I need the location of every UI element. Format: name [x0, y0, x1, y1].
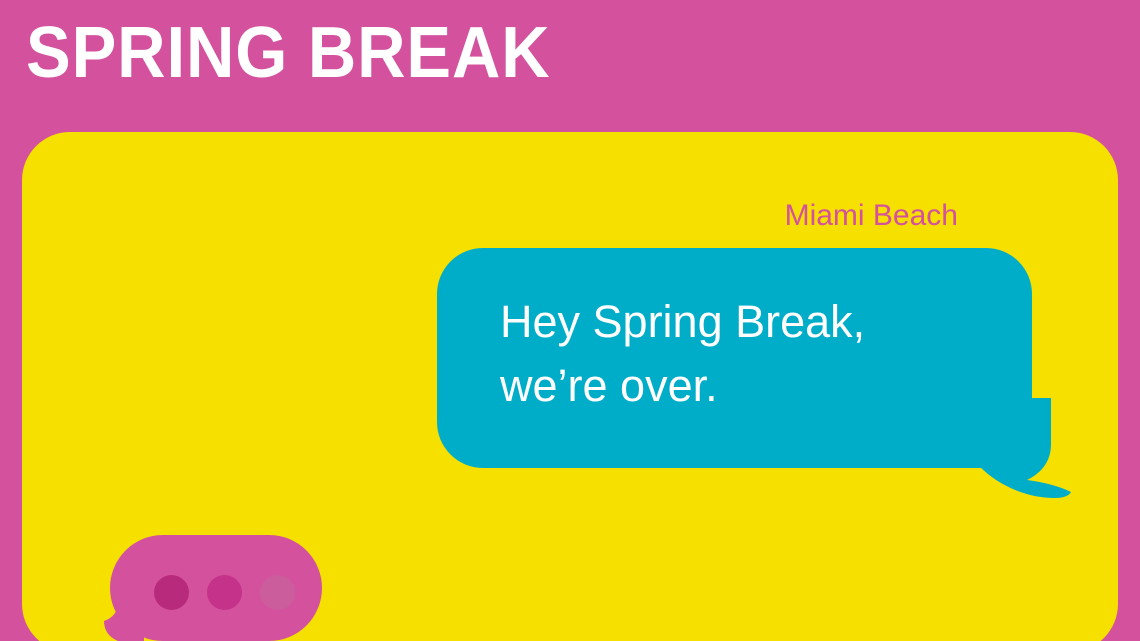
typing-dots: [154, 575, 295, 610]
typing-dot-2: [207, 575, 242, 610]
page-title: SPRING BREAK: [26, 12, 551, 94]
typing-dot-1: [154, 575, 189, 610]
incoming-message-bubble: Hey Spring Break, we’re over.: [437, 248, 1077, 498]
typing-dot-3: [260, 575, 295, 610]
typing-bubble-tail-icon: [104, 593, 144, 641]
poster-canvas: SPRING BREAK Miami Beach Hey Spring Brea…: [0, 0, 1140, 641]
contact-label: Miami Beach: [728, 198, 958, 234]
message-text: Hey Spring Break, we’re over.: [500, 290, 1000, 418]
typing-indicator: [104, 533, 334, 641]
